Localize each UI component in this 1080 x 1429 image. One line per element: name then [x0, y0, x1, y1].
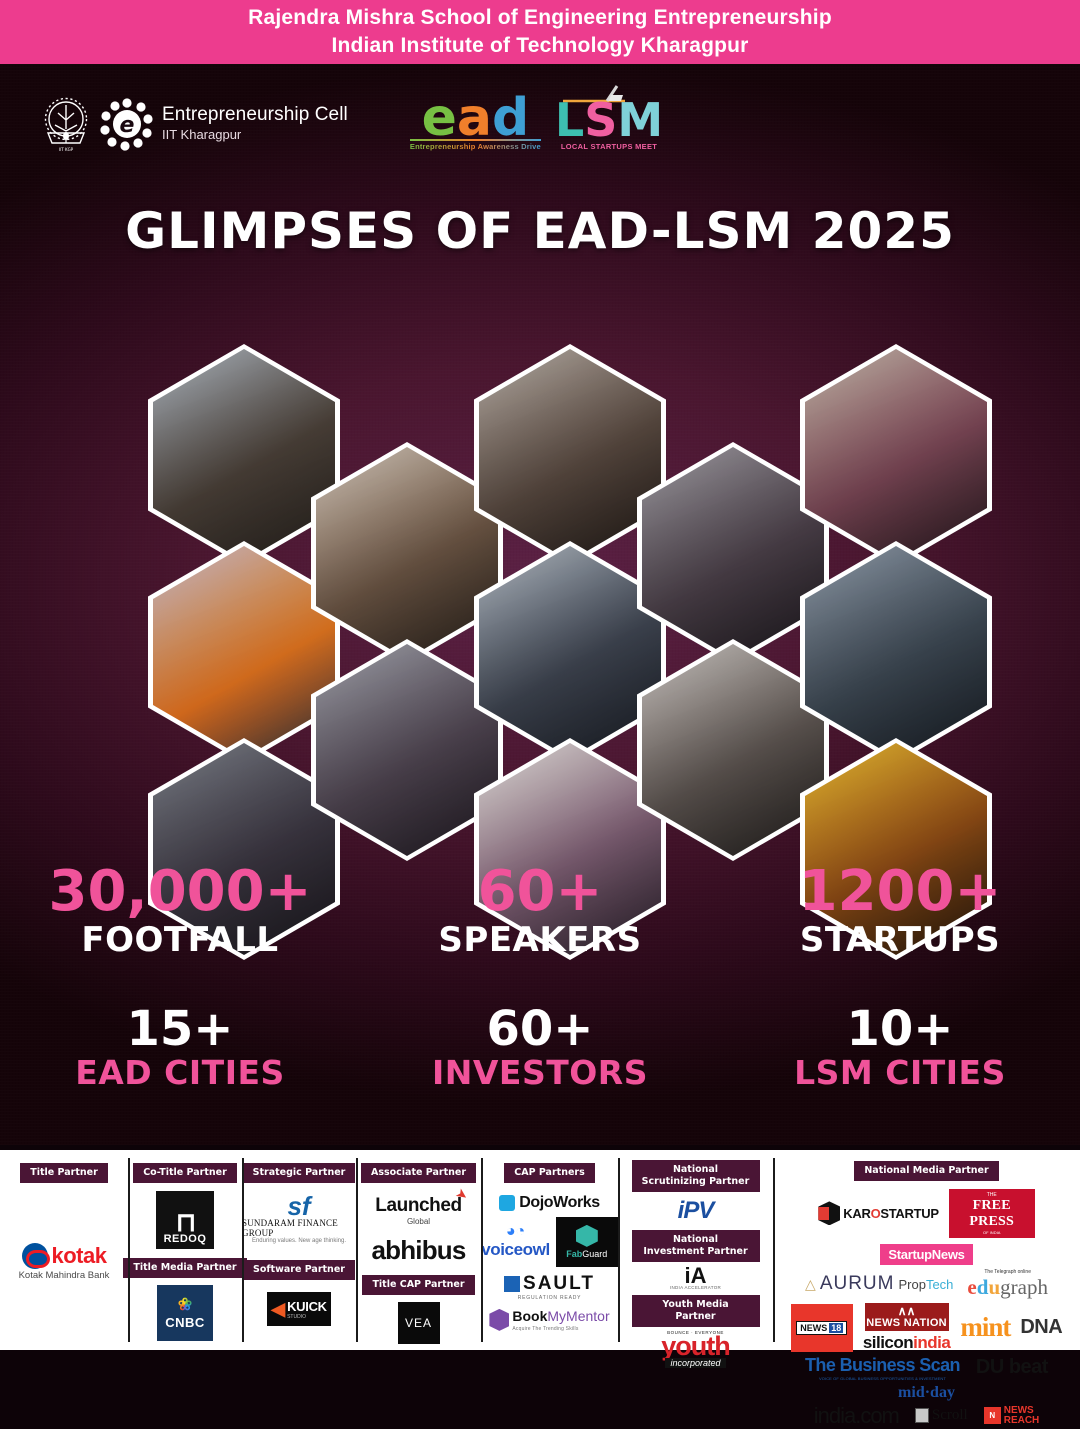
logo-india-com: india.com — [814, 1403, 899, 1429]
kotak-subtext: Kotak Mahindra Bank — [19, 1270, 110, 1281]
dojoworks-wordmark: DojoWorks — [519, 1194, 600, 1212]
news-reach-icon: N — [984, 1407, 1001, 1424]
ecell-logo-group: IIT KGP e Entrepreneurship Cell IIT Khar… — [40, 95, 348, 153]
edugraph-d: d — [977, 1275, 989, 1299]
stat-footfall: 30,000+ FOOTFALL — [0, 864, 360, 959]
stat-ead-cities-label: EAD CITIES — [0, 1055, 360, 1091]
institution-header-line2: Indian Institute of Technology Kharagpur — [331, 32, 748, 60]
logo-mid-day: mid·day — [898, 1384, 955, 1402]
stat-startups-number: 1200+ — [720, 864, 1080, 920]
svg-text:IIT KGP: IIT KGP — [59, 147, 74, 152]
logo-ipv: iPV — [678, 1197, 714, 1225]
logo-kuick-studio: ◀ KUICK STUDIO — [267, 1292, 331, 1326]
caption-title-cap-partner: Title CAP Partner — [362, 1275, 474, 1295]
launched-wordmark: Launched — [375, 1195, 462, 1217]
stat-startups-label: STARTUPS — [720, 922, 1080, 959]
tbs-wordmark: The Business Scan — [805, 1355, 960, 1376]
logo-the-business-scan: The Business Scan VOICE OF GLOBAL BUSINE… — [805, 1355, 960, 1381]
bmm-mymentor: MyMentor — [547, 1308, 609, 1324]
freepress-wordmark: FREE PRESS — [949, 1198, 1035, 1230]
iit-kharagpur-crest-icon: IIT KGP — [40, 95, 92, 153]
ead-logo: e a d Entrepreneurship Awareness Drive — [410, 97, 541, 152]
ipv-wordmark: iPV — [678, 1197, 714, 1224]
logo-scroll: Scroll — [915, 1407, 968, 1424]
page-title: GLIMPSES OF EAD-LSM 2025 — [0, 202, 1080, 260]
ecell-sub: IIT Kharagpur — [162, 128, 348, 142]
lsm-letter-s: S — [584, 101, 617, 140]
tbs-tagline: VOICE OF GLOBAL BUSINESS OPPORTUNITIES &… — [819, 1376, 946, 1381]
sponsor-column-associate-partner: Associate Partner ➤ Launched Global abhi… — [356, 1150, 481, 1350]
logo-vea: VEA — [398, 1302, 440, 1344]
logo-kotak: kotak Kotak Mahindra Bank — [19, 1243, 110, 1281]
logo-dojoworks: DojoWorks — [499, 1194, 600, 1212]
fabguard-wordmark-guard: Guard — [582, 1249, 607, 1259]
stat-investors-number: 60+ — [360, 1005, 720, 1053]
caption-youth-media-partner: Youth Media Partner — [632, 1295, 760, 1327]
logo-dna: DNA — [1020, 1316, 1062, 1339]
news18-18: 18 — [829, 1323, 843, 1333]
caption-co-title-partner: Co-Title Partner — [133, 1163, 237, 1183]
logo-fabguard: FabGuard — [556, 1217, 618, 1267]
aurum-proptech-label: PropTech — [898, 1277, 953, 1292]
kuick-arrow-icon: ◀ — [271, 1299, 285, 1320]
logo-strip: IIT KGP e Entrepreneurship Cell IIT Khar… — [40, 86, 663, 162]
sponsor-column-title-partner: Title Partner kotak Kotak Mahindra Bank — [0, 1150, 128, 1350]
lsm-logo: L S M LOCAL STARTUPS MEET — [555, 101, 663, 151]
svg-text:e: e — [120, 113, 135, 138]
logo-abhibus: abhibus — [371, 1235, 465, 1266]
ead-letter-a: a — [457, 97, 492, 140]
logo-aurum-proptech: △ AURUM PropTech — [805, 1273, 953, 1295]
sponsor-bar: Title Partner kotak Kotak Mahindra Bank … — [0, 1150, 1080, 1350]
youth-wordmark: youth — [661, 1335, 730, 1358]
news-nation-icon: ∧∧ — [865, 1305, 949, 1317]
bookmymentor-cube-icon — [489, 1309, 509, 1331]
logo-cnbc: ❀ CNBC — [157, 1285, 213, 1341]
institution-header-banner: Rajendra Mishra School of Engineering En… — [0, 0, 1080, 64]
stat-ead-cities-number: 15+ — [0, 1005, 360, 1053]
sponsor-column-strategic-partner: Strategic Partner sf SUNDARAM FINANCE GR… — [242, 1150, 356, 1350]
caption-title-partner: Title Partner — [20, 1163, 108, 1183]
scroll-icon — [915, 1408, 929, 1423]
logo-redoq: ⊓ REDOQ — [156, 1191, 214, 1249]
logo-edugraph: The Telegraph online edugraph — [967, 1269, 1048, 1300]
kotak-mark-icon — [22, 1243, 48, 1269]
voiceowl-wordmark: voiceowl — [481, 1240, 550, 1260]
youth-incorporated-label: incorporated — [665, 1358, 725, 1368]
redoq-glyph-icon: ⊓ — [176, 1212, 194, 1233]
ia-subtext: INDIA ACCELERATOR — [670, 1285, 721, 1290]
stat-ead-cities: 15+ EAD CITIES — [0, 1005, 360, 1091]
bmm-tagline: Acquire The Trending Skills — [512, 1326, 609, 1332]
caption-strategic-partner: Strategic Partner — [243, 1163, 356, 1183]
launched-global-label: Global — [407, 1217, 430, 1226]
caption-national-scrutinizing-partner: National Scrutinizing Partner — [632, 1160, 760, 1192]
sault-square-icon — [504, 1276, 520, 1292]
stat-investors: 60+ INVESTORS — [360, 1005, 720, 1091]
redoq-wordmark: REDOQ — [164, 1233, 207, 1245]
karo-kar: KAR — [843, 1206, 870, 1221]
logo-india-accelerator: iA INDIA ACCELERATOR — [670, 1266, 721, 1291]
lsm-letter-l: L — [555, 101, 584, 140]
poster-body: IIT KGP e Entrepreneurship Cell IIT Khar… — [0, 64, 1080, 1145]
logo-news-nation: ∧∧ NEWS NATION — [865, 1303, 949, 1331]
scroll-wordmark: Scroll — [932, 1407, 968, 1424]
cnbc-peacock-icon: ❀ — [178, 1296, 192, 1313]
event-logos: e a d Entrepreneurship Awareness Drive L… — [410, 97, 663, 152]
bmm-book: Book — [512, 1308, 547, 1324]
sundaram-mark: sf — [287, 1195, 310, 1218]
stat-speakers-label: SPEAKERS — [360, 922, 720, 959]
voiceowl-owl-icon: ◕◔ — [506, 1224, 525, 1240]
dojoworks-icon — [499, 1195, 515, 1211]
logo-news18: NEWS18 — [791, 1304, 853, 1352]
ia-wordmark: iA — [684, 1266, 706, 1286]
ecell-name: Entrepreneurship Cell — [162, 105, 348, 126]
ead-letter-d: d — [492, 97, 529, 140]
kuick-subtext: STUDIO — [287, 1314, 327, 1320]
stats-row-1: 30,000+ FOOTFALL 60+ SPEAKERS 1200+ STAR… — [0, 864, 1080, 959]
edugraph-e: e — [967, 1275, 976, 1299]
sponsor-column-co-title-partner: Co-Title Partner ⊓ REDOQ Title Media Par… — [128, 1150, 242, 1350]
stat-startups: 1200+ STARTUPS — [720, 864, 1080, 959]
ead-rule — [410, 139, 541, 141]
logo-du-beat: DU beat — [976, 1356, 1048, 1379]
fabguard-hex-icon — [576, 1225, 598, 1247]
sault-wordmark: SAULT — [523, 1273, 595, 1295]
kuick-wordmark: KUICK — [287, 1299, 327, 1314]
sundaram-name: SUNDARAM FINANCE GROUP — [242, 1218, 356, 1238]
stats-row-2: 15+ EAD CITIES 60+ INVESTORS 10+ LSM CIT… — [0, 1005, 1080, 1091]
sponsor-column-cap-partners: CAP Partners DojoWorks ◕◔ voiceowl FabGu… — [481, 1150, 618, 1350]
stat-speakers-number: 60+ — [360, 864, 720, 920]
logo-news-reach: N NEWSREACH — [984, 1406, 1040, 1426]
lsm-letter-m: M — [617, 101, 663, 140]
news-nation-wordmark: NEWS NATION — [865, 1317, 949, 1329]
sponsor-column-national-media-partner: National Media Partner KAROSTARTUP THE F… — [773, 1150, 1080, 1350]
stat-lsm-cities-label: LSM CITIES — [720, 1055, 1080, 1091]
sponsor-column-national-partners: National Scrutinizing Partner iPV Nation… — [618, 1150, 773, 1350]
kotak-wordmark: kotak — [52, 1243, 107, 1269]
caption-national-investment-partner: National Investment Partner — [632, 1230, 760, 1262]
stat-footfall-number: 30,000+ — [0, 864, 360, 920]
stat-speakers: 60+ SPEAKERS — [360, 864, 720, 959]
logo-startupnews: StartupNews — [880, 1244, 972, 1265]
sault-tagline: REGULATION READY — [518, 1295, 582, 1301]
karo-startup: STARTUP — [880, 1206, 938, 1221]
caption-title-media-partner: Title Media Partner — [123, 1258, 246, 1278]
sundaram-tagline: Enduring values. New age thinking. — [252, 1238, 346, 1244]
stat-footfall-label: FOOTFALL — [0, 922, 360, 959]
logo-karostartup: KAROSTARTUP — [818, 1201, 938, 1225]
news-reach-wordmark: NEWSREACH — [1004, 1406, 1040, 1426]
stat-lsm-cities: 10+ LSM CITIES — [720, 1005, 1080, 1091]
statistics-section: 30,000+ FOOTFALL 60+ SPEAKERS 1200+ STAR… — [0, 864, 1080, 1092]
ecell-emblem-icon: e — [100, 97, 154, 151]
karostartup-cube-icon — [818, 1201, 840, 1225]
logo-sundaram-finance: sf SUNDARAM FINANCE GROUP Enduring value… — [242, 1195, 356, 1244]
aurum-wordmark: AURUM — [820, 1273, 895, 1295]
caption-software-partner: Software Partner — [243, 1260, 355, 1280]
stat-investors-label: INVESTORS — [360, 1055, 720, 1091]
logo-bookmymentor: BookMyMentor Acquire The Trending Skills — [489, 1308, 609, 1332]
news18-news: NEWS — [800, 1323, 827, 1333]
cnbc-wordmark: CNBC — [165, 1315, 205, 1330]
ead-letter-e: e — [422, 97, 457, 140]
caption-associate-partner: Associate Partner — [361, 1163, 476, 1183]
aurum-triangle-icon: △ — [805, 1276, 816, 1293]
ead-tagline: Entrepreneurship Awareness Drive — [410, 142, 541, 151]
caption-national-media-partner: National Media Partner — [854, 1161, 998, 1181]
fabguard-wordmark-fab: Fab — [566, 1249, 582, 1259]
edugraph-u: u — [988, 1275, 1000, 1299]
logo-youth-incorporated: BOUNCE · EVERYONE youth incorporated — [661, 1330, 730, 1368]
logo-mint: mint — [960, 1312, 1010, 1343]
edugraph-graph: graph — [1000, 1275, 1048, 1299]
logo-free-press: THE FREE PRESS OF INDIA — [949, 1189, 1035, 1238]
stat-lsm-cities-number: 10+ — [720, 1005, 1080, 1053]
logo-launched-global: ➤ Launched Global — [375, 1195, 462, 1226]
caption-cap-partners: CAP Partners — [504, 1163, 595, 1183]
karo-o: O — [871, 1206, 881, 1221]
photo-collage — [0, 269, 1080, 859]
logo-sault: SAULT REGULATION READY — [504, 1273, 595, 1301]
logo-voiceowl: ◕◔ voiceowl — [481, 1224, 550, 1260]
freepress-sub: OF INDIA — [949, 1230, 1035, 1235]
institution-header-line1: Rajendra Mishra School of Engineering En… — [248, 4, 832, 32]
